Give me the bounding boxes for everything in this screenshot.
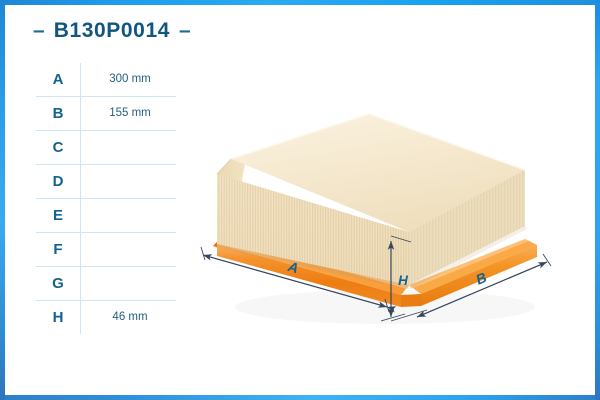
table-row: F [36, 233, 176, 267]
table-row: B 155 mm [36, 97, 176, 131]
dimension-value: 46 mm [80, 312, 176, 324]
frame-top-border [0, 0, 600, 5]
dimension-value: 300 mm [80, 74, 176, 86]
dimension-key: C [36, 140, 80, 155]
dimension-label-h: H [398, 273, 408, 288]
dimension-key: A [36, 72, 80, 87]
product-code: B130P0014 [54, 20, 170, 41]
title-dash-left: – [33, 20, 45, 41]
dimension-key: G [36, 276, 80, 291]
product-spec-card: – B130P0014 – A 300 mm B 155 mm C D E F [0, 0, 600, 400]
frame-left-border [0, 0, 5, 400]
page-title: – B130P0014 – [33, 20, 191, 41]
dimension-key: F [36, 242, 80, 257]
title-dash-right: – [179, 20, 191, 41]
table-row: A 300 mm [36, 63, 176, 97]
table-row: H 46 mm [36, 301, 176, 334]
dimension-key: B [36, 106, 80, 121]
dimension-key: E [36, 208, 80, 223]
dimension-value: 155 mm [80, 108, 176, 120]
dimension-table: A 300 mm B 155 mm C D E F G H 46 mm [36, 63, 176, 334]
table-row: C [36, 131, 176, 165]
table-row: G [36, 267, 176, 301]
dimension-key: D [36, 174, 80, 189]
table-row: E [36, 199, 176, 233]
frame-right-border [595, 0, 600, 400]
frame-bottom-border [0, 395, 600, 400]
dimension-key: H [36, 310, 80, 325]
product-image-air-filter: A B H [195, 95, 575, 360]
table-row: D [36, 165, 176, 199]
